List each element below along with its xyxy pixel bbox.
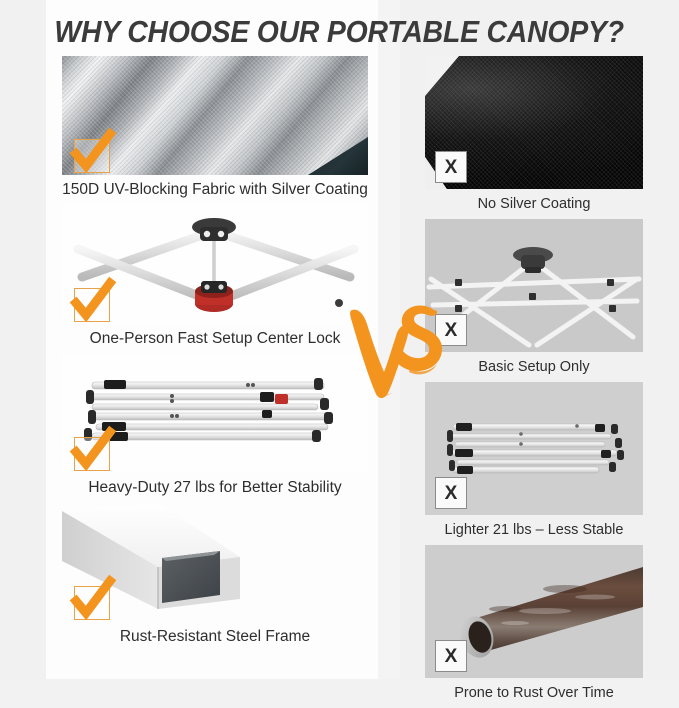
x-icon: X — [435, 477, 467, 509]
folded-canopy-frame-photo — [62, 354, 368, 473]
x-icon: X — [435, 151, 467, 183]
versus-badge — [348, 296, 448, 402]
silver-coated-canopy-fabric-photo — [62, 56, 368, 175]
comparison-row: Rust-Resistant Steel Frame — [62, 503, 368, 652]
check-icon — [74, 586, 110, 620]
caption: Basic Setup Only — [425, 352, 643, 382]
caption: Heavy-Duty 27 lbs for Better Stability — [62, 473, 368, 503]
vs-brush-glyph — [348, 296, 448, 402]
rusty-steel-pipe-photo: X — [425, 545, 643, 678]
comparison-row: 150D UV-Blocking Fabric with Silver Coat… — [62, 56, 368, 205]
comparison-row: X Lighter 21 lbs – Less Stable — [425, 382, 643, 545]
canopy-frame-center-lock-photo — [62, 205, 368, 324]
check-icon — [74, 437, 110, 471]
white-square-steel-tube-photo — [62, 503, 368, 622]
check-glyph — [70, 577, 116, 621]
page-title: WHY CHOOSE OUR PORTABLE CANOPY? — [55, 15, 624, 50]
caption: Rust-Resistant Steel Frame — [62, 622, 368, 652]
comparison-row: X Prone to Rust Over Time — [425, 545, 643, 708]
caption: Lighter 21 lbs – Less Stable — [425, 515, 643, 545]
caption: Prone to Rust Over Time — [425, 678, 643, 708]
infographic-page: WHY CHOOSE OUR PORTABLE CANOPY? 150D UV-… — [0, 0, 679, 679]
competitor-column: X No Silver Coating — [425, 56, 643, 708]
caption: No Silver Coating — [425, 189, 643, 219]
check-glyph — [70, 130, 116, 174]
comparison-row: One-Person Fast Setup Center Lock — [62, 205, 368, 354]
basic-canopy-frame-photo: X — [425, 219, 643, 352]
comparison-row: X No Silver Coating — [425, 56, 643, 219]
our-product-column: 150D UV-Blocking Fabric with Silver Coat… — [62, 56, 368, 652]
caption: One-Person Fast Setup Center Lock — [62, 324, 368, 354]
comparison-row: Heavy-Duty 27 lbs for Better Stability — [62, 354, 368, 503]
caption: 150D UV-Blocking Fabric with Silver Coat… — [62, 175, 368, 205]
check-glyph — [70, 279, 116, 323]
title-banner: WHY CHOOSE OUR PORTABLE CANOPY? — [0, 8, 679, 56]
folded-lightweight-frame-photo: X — [425, 382, 643, 515]
check-icon — [74, 139, 110, 173]
check-icon — [74, 288, 110, 322]
x-icon: X — [435, 640, 467, 672]
comparison-row: X Basic Setup Only — [425, 219, 643, 382]
plain-black-fabric-photo: X — [425, 56, 643, 189]
check-glyph — [70, 428, 116, 472]
